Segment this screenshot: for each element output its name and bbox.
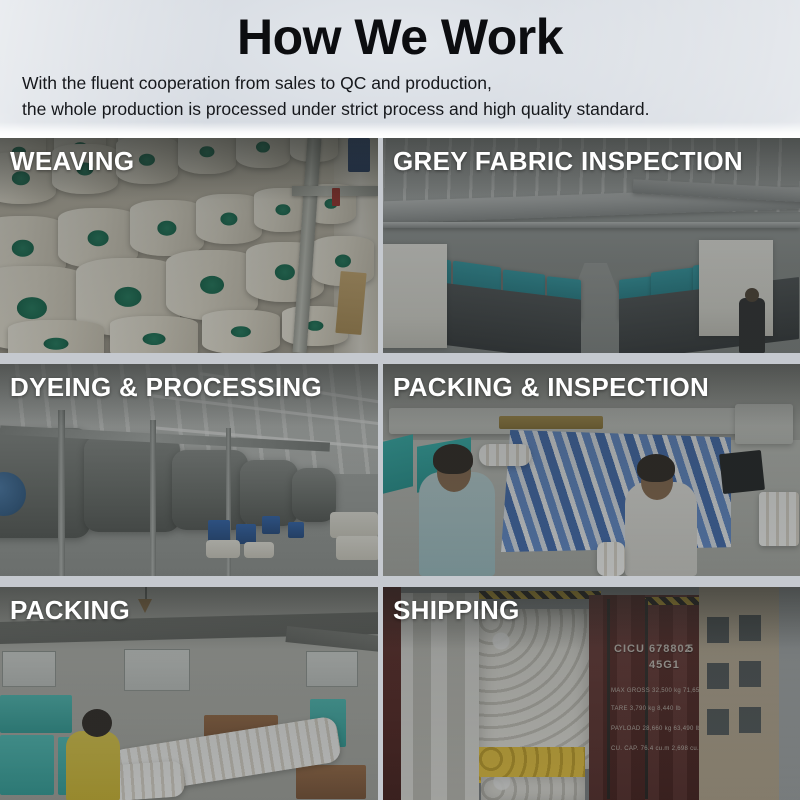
container-spec-row-2: TARE 3,790 kg 8,440 lb	[611, 705, 681, 713]
panel-packing[interactable]: PACKING	[0, 587, 378, 800]
container-owner-code: CICU	[614, 643, 645, 655]
panel-packing-inspection[interactable]: PACKING & INSPECTION	[383, 364, 800, 576]
panel-dyeing-processing[interactable]: DYEING & PROCESSING	[0, 364, 378, 576]
container-check-digit: 5	[687, 643, 694, 655]
panel-label-packing: PACKING	[10, 593, 130, 627]
panel-grey-fabric-inspection[interactable]: GREY FABRIC INSPECTION	[383, 138, 800, 353]
pendant-lamp-icon	[138, 599, 152, 613]
grid-gutter-h2b	[383, 576, 800, 587]
ceiling-beam	[383, 222, 800, 228]
door-locking-rod-1	[607, 599, 610, 799]
panel-label-grey-fabric-inspection: GREY FABRIC INSPECTION	[393, 144, 743, 178]
background-building-far	[779, 587, 800, 800]
teal-wall-panel-left	[383, 434, 413, 493]
container-spec-row-1: MAX GROSS 32,500 kg 71,650 lb	[611, 687, 710, 695]
support-column-1	[58, 410, 65, 576]
support-column-2	[150, 420, 156, 576]
cargo-rolls	[479, 609, 589, 769]
subtitle-line-2: the whole production is processed under …	[22, 96, 782, 122]
page-header: How We Work With the fluent cooperation …	[0, 0, 800, 136]
container-type-code: 45G1	[649, 659, 680, 671]
hood-right-edge	[735, 404, 793, 444]
cargo-rolls-bottom	[481, 777, 585, 800]
hazard-stripe-right	[645, 597, 703, 605]
window-left	[2, 651, 56, 687]
chinese-sign	[499, 416, 603, 429]
grid-gutter-h1b	[383, 353, 800, 364]
window-mid	[124, 649, 190, 691]
paper-tubes-right	[759, 492, 799, 546]
tan-board	[335, 271, 366, 335]
packed-roll-bottom	[597, 542, 625, 576]
packing-worker-head	[82, 709, 112, 737]
grid-gutter-h1a	[0, 353, 378, 364]
blue-cloth	[348, 138, 370, 172]
subtitle-line-1: With the fluent cooperation from sales t…	[22, 70, 782, 96]
inspection-monitor	[719, 450, 765, 494]
process-photo-grid: WEAVING	[0, 138, 800, 800]
hanging-fabric-left	[383, 244, 447, 348]
panel-weaving[interactable]: WEAVING	[0, 138, 378, 353]
fabric-roll-on-table	[479, 444, 531, 466]
door-locking-rod-2	[645, 599, 648, 799]
grid-gutter-h2a	[0, 576, 378, 587]
worker-left-hair-bun	[433, 444, 473, 474]
container-spec-row-3: PAYLOAD 28,660 kg 63,490 lb	[611, 725, 701, 733]
panel-shipping[interactable]: CICU 678802 5 45G1 MAX GROSS 32,500 kg 7…	[383, 587, 800, 800]
worker-right-hair-bun	[637, 454, 675, 482]
dye-vessel-3	[172, 450, 248, 530]
worker-head	[745, 288, 759, 302]
panel-label-dyeing-processing: DYEING & PROCESSING	[10, 370, 322, 404]
panel-label-packing-inspection: PACKING & INSPECTION	[393, 370, 709, 404]
page-title: How We Work	[0, 7, 800, 67]
how-we-work-page: How We Work With the fluent cooperation …	[0, 0, 800, 800]
container-door-closed	[589, 595, 699, 800]
dye-vessel-2	[84, 436, 180, 532]
page-subtitle: With the fluent cooperation from sales t…	[22, 70, 782, 122]
container-spec-row-4: CU. CAP. 76.4 cu.m 2,698 cu.ft	[611, 745, 703, 753]
panel-label-shipping: SHIPPING	[393, 593, 520, 627]
worker-figure	[739, 298, 765, 353]
window-right	[306, 651, 358, 687]
rail-red-marker	[332, 188, 340, 206]
wood-bench	[296, 765, 366, 799]
panel-label-weaving: WEAVING	[10, 144, 134, 178]
container-serial: 678802	[649, 643, 692, 655]
packing-worker-shirt	[66, 731, 120, 800]
header-bottom-fade	[0, 122, 800, 136]
